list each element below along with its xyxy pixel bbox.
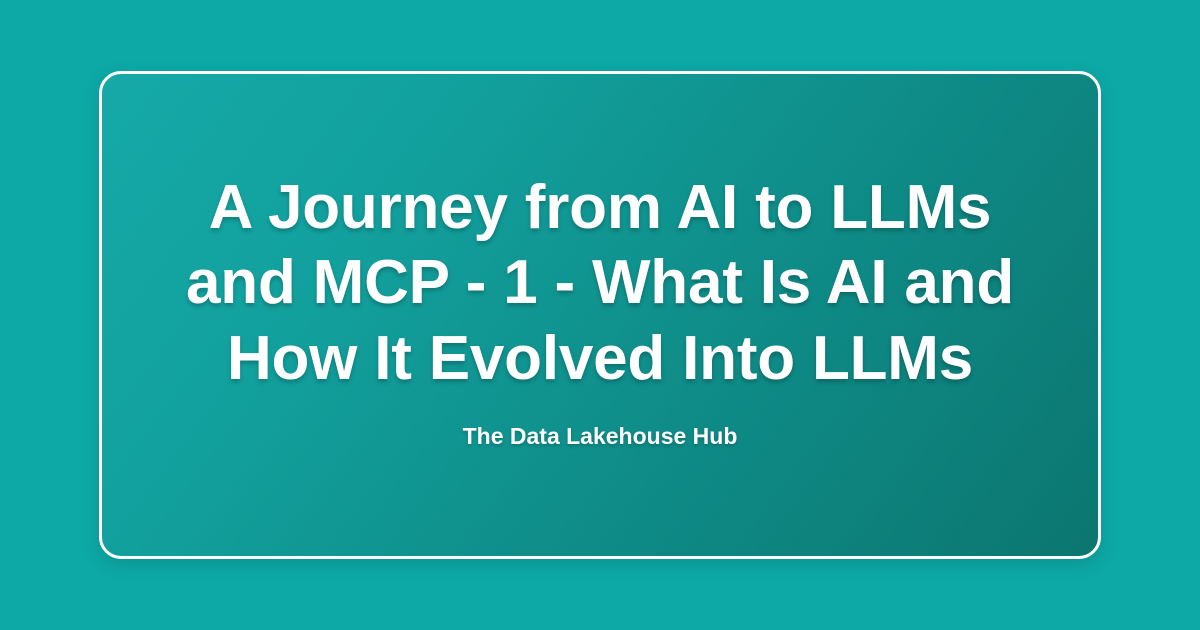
content-card: A Journey from AI to LLMs and MCP - 1 - … [99,71,1101,559]
site-name-subtitle: The Data Lakehouse Hub [463,422,738,452]
og-image-canvas: A Journey from AI to LLMs and MCP - 1 - … [0,0,1200,630]
page-title: A Journey from AI to LLMs and MCP - 1 - … [150,170,1050,397]
